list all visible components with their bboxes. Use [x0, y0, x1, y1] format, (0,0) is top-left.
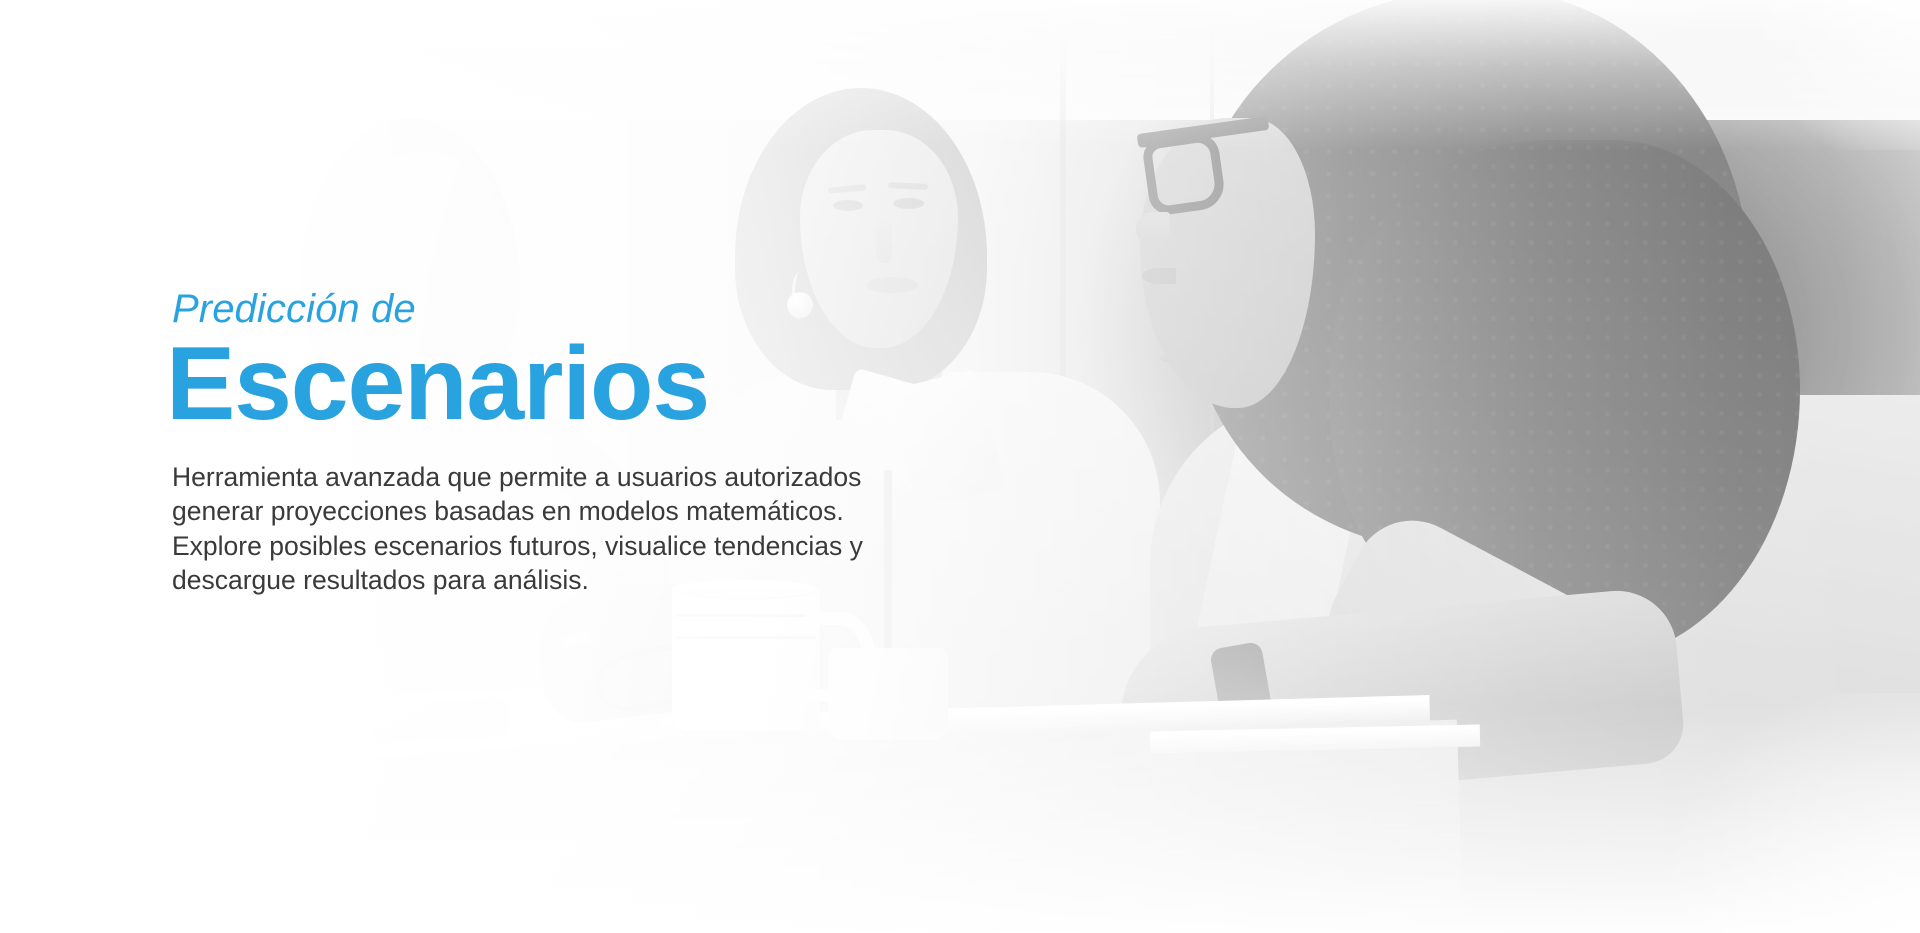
hero-banner: Predicción de Escenarios Herramienta ava…	[0, 0, 1920, 933]
hero-description-line: Explore posibles escenarios futuros, vis…	[172, 529, 962, 563]
photo-corner-fade-top-right	[1740, 0, 1920, 150]
hero-headline: Escenarios	[166, 332, 992, 436]
hero-description: Herramienta avanzada que permite a usuar…	[172, 460, 962, 598]
hero-description-line: descargue resultados para análisis.	[172, 563, 962, 597]
hero-eyebrow: Predicción de	[172, 288, 992, 330]
hero-description-line: Herramienta avanzada que permite a usuar…	[172, 460, 962, 494]
hero-description-line: generar proyecciones basadas en modelos …	[172, 494, 962, 528]
hero-text-block: Predicción de Escenarios Herramienta ava…	[172, 288, 992, 598]
photo-corner-fade-top-left	[0, 0, 330, 280]
photo-corner-fade-bottom-right	[1620, 693, 1920, 933]
photo-corner-fade-bottom-left	[0, 633, 360, 933]
